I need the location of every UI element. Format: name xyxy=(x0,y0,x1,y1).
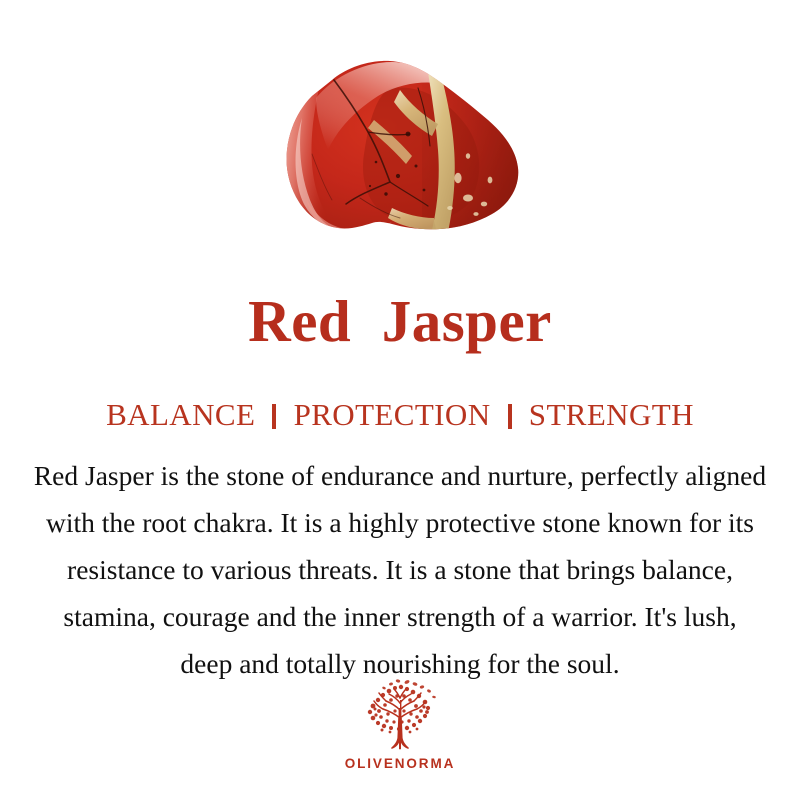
keyword-line: BALANCE PROTECTION STRENGTH xyxy=(0,396,800,434)
keyword-balance: BALANCE xyxy=(106,397,255,432)
product-info-card: Red Jasper BALANCE PROTECTION STRENGTH R… xyxy=(0,0,800,800)
description-line-4: stamina, courage and the inner strength … xyxy=(8,593,792,640)
description-line-2: with the root chakra. It is a highly pro… xyxy=(8,499,792,546)
stone-body xyxy=(272,58,540,250)
keyword-protection: PROTECTION xyxy=(294,397,491,432)
description-line-1: Red Jasper is the stone of endurance and… xyxy=(8,452,792,499)
product-title: Red Jasper xyxy=(0,288,800,354)
description-line-3: resistance to various threats. It is a s… xyxy=(8,546,792,593)
red-jasper-stone-image xyxy=(272,58,540,250)
brand-name: OLIVENORMA xyxy=(0,756,800,771)
tree-logo-icon xyxy=(357,678,443,754)
product-description: Red Jasper is the stone of endurance and… xyxy=(8,452,792,687)
keyword-separator-1 xyxy=(272,404,276,429)
keyword-strength: STRENGTH xyxy=(529,397,694,432)
brand-logo: OLIVENORMA xyxy=(0,678,800,771)
keyword-separator-2 xyxy=(508,404,512,429)
product-image-area xyxy=(0,0,800,265)
